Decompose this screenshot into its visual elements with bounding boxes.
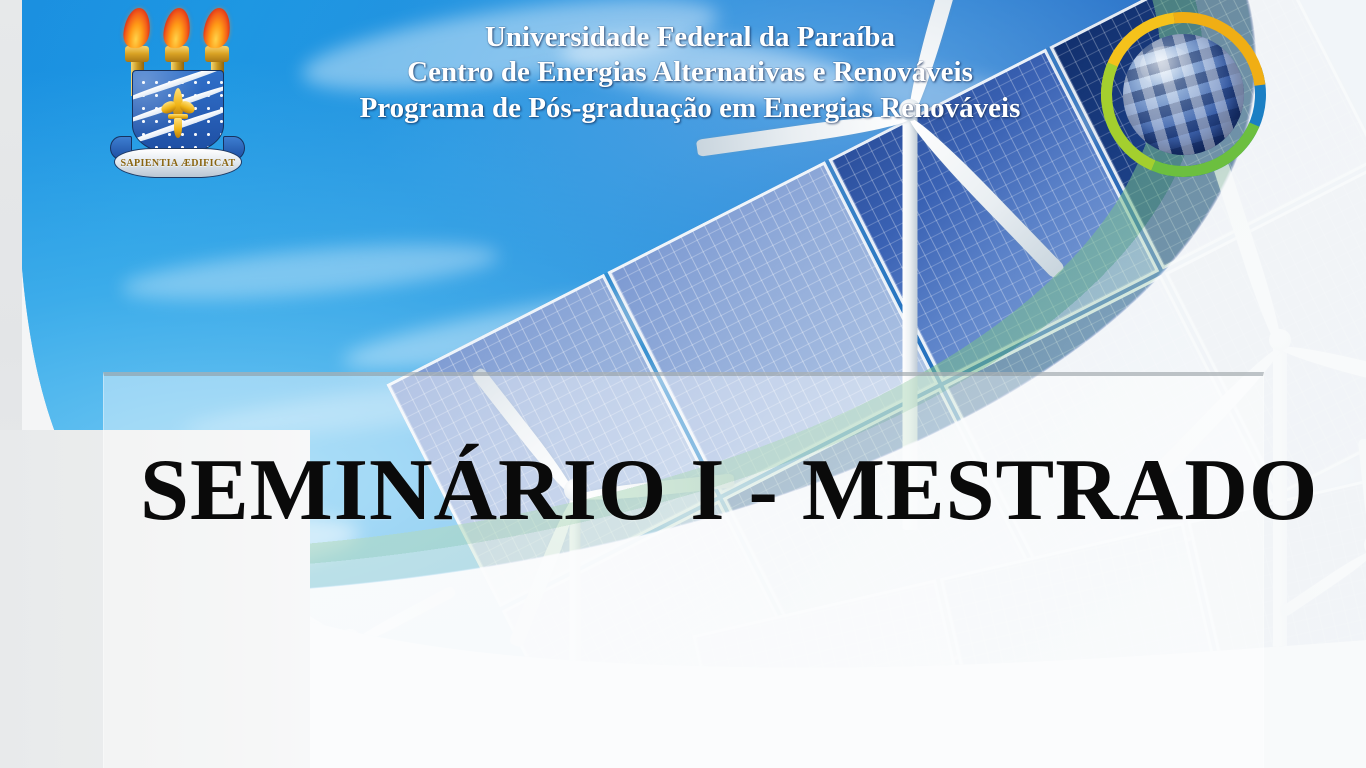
motto-ribbon: SAPIENTIA ÆDIFICAT xyxy=(114,148,242,178)
globe-icon xyxy=(1123,34,1244,155)
presentation-slide: SAPIENTIA ÆDIFICAT Universidade Federal … xyxy=(0,0,1366,768)
motto-text: SAPIENTIA ÆDIFICAT xyxy=(120,158,235,169)
header-line-university: Universidade Federal da Paraíba xyxy=(250,20,1130,55)
header-line-program: Programa de Pós-graduação em Energias Re… xyxy=(250,91,1130,126)
title-overlay-panel xyxy=(103,372,1264,768)
fleur-de-lis-icon xyxy=(161,88,195,140)
globe-highlight xyxy=(1140,46,1193,87)
header-line-center: Centro de Energias Alternativas e Renová… xyxy=(250,55,1130,90)
ufpb-coat-of-arms: SAPIENTIA ÆDIFICAT xyxy=(110,8,245,183)
page-title: SEMINÁRIO I - MESTRADO xyxy=(140,440,1260,541)
institution-header: Universidade Federal da Paraíba Centro d… xyxy=(250,20,1130,126)
shield-icon xyxy=(132,70,224,154)
